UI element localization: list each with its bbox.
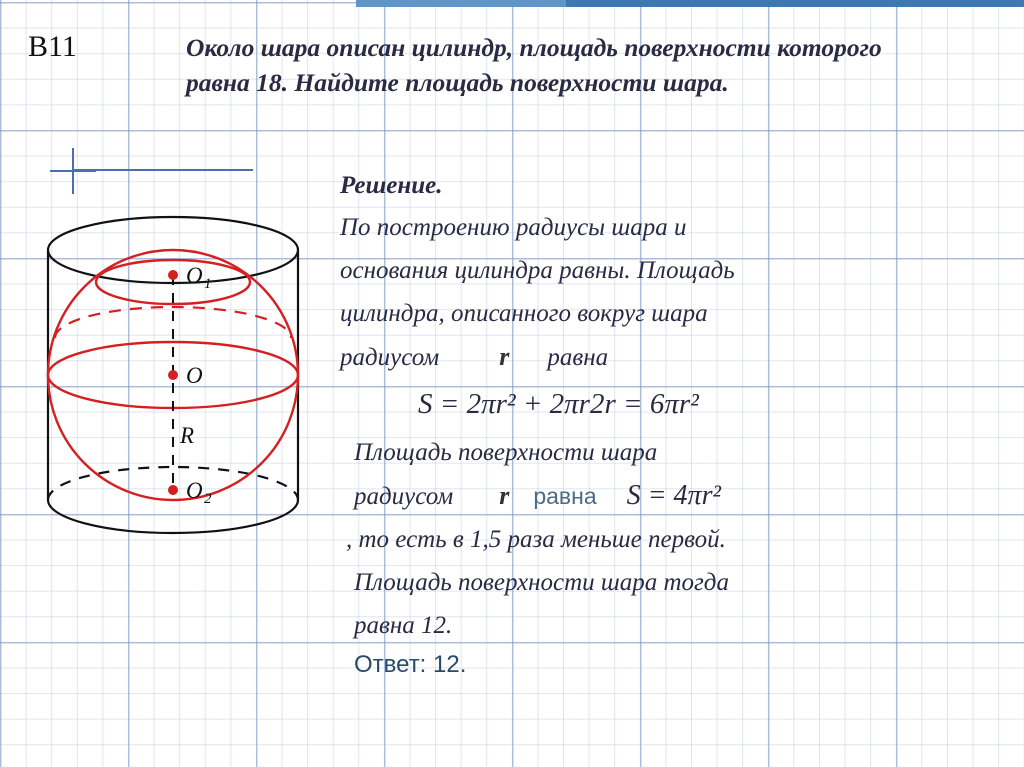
cylinder-sphere-svg: O 1 O R O 2 bbox=[28, 195, 348, 595]
solution-heading: Решение. bbox=[340, 172, 1016, 200]
guide-line bbox=[73, 169, 253, 171]
solution-line-9: равна 12. bbox=[340, 604, 1016, 647]
solution-line-3: цилиндра, описанного вокруг шара bbox=[340, 292, 1016, 335]
solution-line-5: Площадь поверхности шара bbox=[340, 431, 1016, 474]
top-accent-bar-light bbox=[356, 0, 566, 7]
radius-variable-1: r bbox=[499, 335, 509, 378]
slide-page: B11 Около шара описан цилиндр, площадь п… bbox=[0, 0, 1024, 767]
solution-line-2: основания цилиндра равны. Площадь bbox=[340, 249, 1016, 292]
svg-text:2: 2 bbox=[204, 491, 212, 507]
geometry-figure: O 1 O R O 2 bbox=[28, 195, 348, 595]
solution-block: Решение. По построению радиусы шара и ос… bbox=[340, 172, 1016, 679]
solution-line-4: радиусом r равна bbox=[340, 335, 1016, 379]
svg-text:O: O bbox=[186, 363, 203, 388]
problem-statement: Около шара описан цилиндр, площадь повер… bbox=[186, 30, 886, 100]
registration-cross-icon bbox=[50, 148, 96, 194]
solution-line-1: По построению радиусы шара и bbox=[340, 206, 1016, 249]
radius-variable-2: r bbox=[499, 474, 509, 517]
formula-cylinder-area: S = 2πr² + 2πr2r = 6πr² bbox=[340, 381, 1016, 427]
solution-line-8: Площадь поверхности шара тогда bbox=[340, 561, 1016, 604]
solution-line-4-prefix: радиусом bbox=[340, 336, 439, 379]
solution-line-7: , то есть в 1,5 раза меньше первой. bbox=[340, 518, 1016, 561]
svg-text:1: 1 bbox=[204, 276, 212, 292]
formula-sphere-area: S = 4πr² bbox=[627, 474, 721, 517]
svg-text:O: O bbox=[186, 478, 203, 503]
solution-line-6-suffix: равна bbox=[533, 475, 596, 518]
solution-line-4-suffix: равна bbox=[547, 336, 608, 379]
solution-line-6-prefix: радиусом bbox=[354, 475, 453, 518]
svg-text:R: R bbox=[179, 423, 194, 448]
task-code: B11 bbox=[28, 30, 77, 64]
solution-line-6: радиусом r равна S = 4πr² bbox=[340, 474, 1016, 518]
svg-text:O: O bbox=[186, 263, 203, 288]
answer-line: Ответ: 12. bbox=[340, 647, 1016, 679]
